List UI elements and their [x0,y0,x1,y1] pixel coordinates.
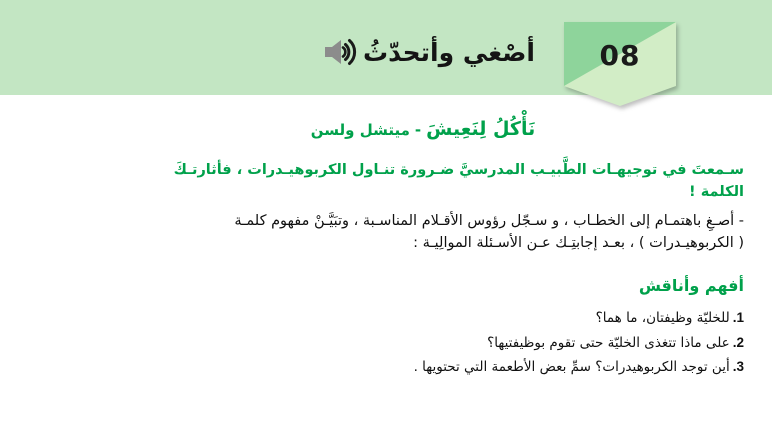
instruction-line-1: - أصـغِ باهتمـام إلى الخطـاب ، و سـجّل ر… [234,213,744,229]
question-number: 1. [730,310,744,325]
intro-line-2: الكلمة ! [22,182,744,204]
lesson-title-dash: - [410,121,426,139]
questions-list: 1.للخليّة وظيفتان، ما هما؟ 2.على ماذا تت… [22,306,744,379]
page-title: أصْغي وأتحدّثُ [363,40,535,65]
question-item: 1.للخليّة وظيفتان، ما هما؟ [22,306,744,330]
question-number: 3. [730,359,744,374]
instruction-paragraph: - أصـغِ باهتمـام إلى الخطـاب ، و سـجّل ر… [22,210,744,255]
instruction-line-2: ( الكربوهيـدرات ) ، بعـد إجابتِـك عـن ال… [22,232,744,254]
lesson-title: نَأْكُلُ لِنَعِيشَ [426,118,535,140]
question-text: أين توجد الكربوهيدرات؟ سمِّ بعض الأطعمة … [414,359,730,375]
intro-line-1: سـمعتَ في توجيهـات الطَّبيـب المدرسيَّ ض… [174,162,744,178]
lesson-number-badge: 08 [564,22,676,106]
lesson-author: ميتشل ولسن [311,121,410,139]
question-number: 2. [730,335,744,350]
lesson-content: نَأْكُلُ لِنَعِيشَ-ميتشل ولسن سـمعتَ في … [0,95,772,423]
question-text: على ماذا تتغذى الخليّة حتى تقوم بوظيفتيه… [487,335,730,351]
question-item: 3.أين توجد الكربوهيدرات؟ سمِّ بعض الأطعم… [22,355,744,379]
question-text: للخليّة وظيفتان، ما هما؟ [596,310,730,326]
intro-paragraph: سـمعتَ في توجيهـات الطَّبيـب المدرسيَّ ض… [22,160,744,204]
speaker-sound-icon [321,36,361,68]
question-item: 2.على ماذا تتغذى الخليّة حتى تقوم بوظيفت… [22,331,744,355]
lesson-subtitle: نَأْكُلُ لِنَعِيشَ-ميتشل ولسن [22,118,744,140]
section-heading-understand-discuss: أفهم وأناقش [22,276,744,295]
